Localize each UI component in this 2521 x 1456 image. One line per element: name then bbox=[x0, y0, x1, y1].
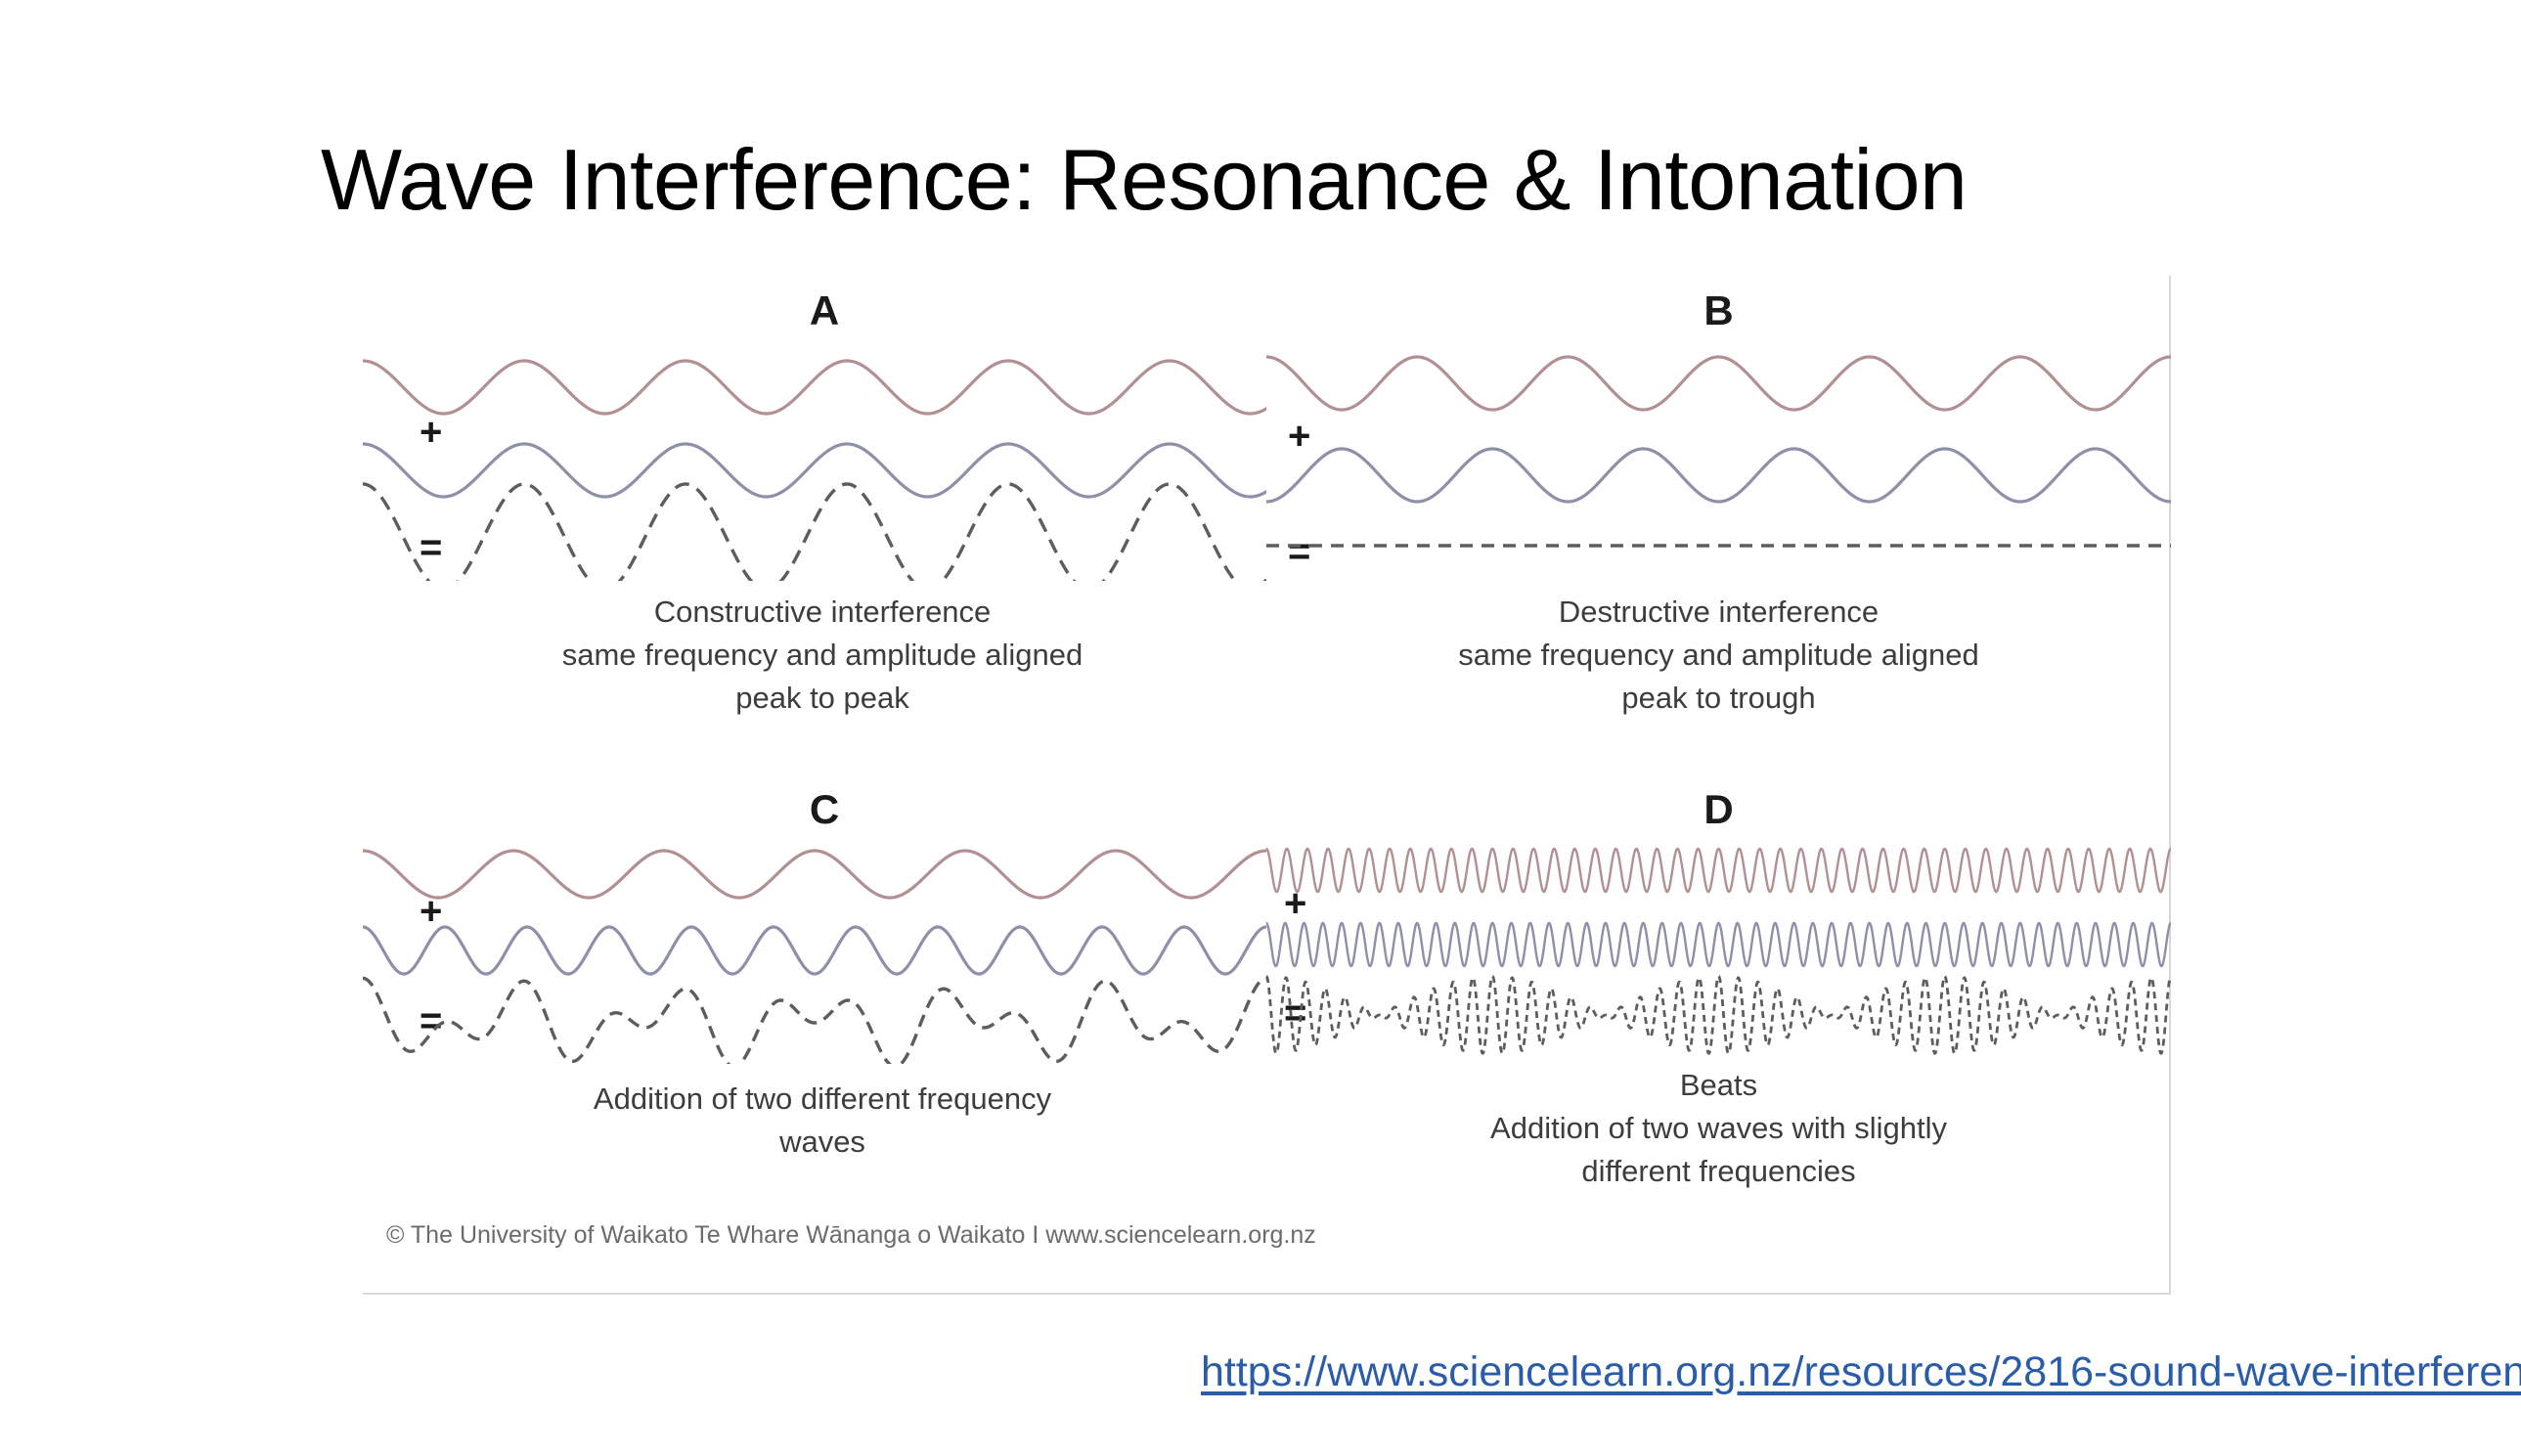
panel-c-letter: C bbox=[363, 786, 1276, 833]
source-url-link[interactable]: https://www.sciencelearn.org.nz/resource… bbox=[1201, 1348, 2521, 1396]
page-title: Wave Interference: Resonance & Intonatio… bbox=[321, 135, 2277, 225]
wave-interference-figure: A + = Constructive interference same fre… bbox=[363, 276, 2171, 1295]
panel-b-caption: Destructive interference same frequency … bbox=[1266, 591, 2171, 720]
panel-c-wave-svg bbox=[363, 831, 1266, 1064]
panel-a-caption: Constructive interference same frequency… bbox=[363, 591, 1274, 720]
panel-d-beats: D + = Beats Addition of two waves with s… bbox=[1266, 774, 2171, 1244]
panel-a-constructive-interference: A + = Constructive interference same fre… bbox=[363, 276, 1266, 774]
panel-d-caption: Beats Addition of two waves with slightl… bbox=[1266, 1064, 2171, 1193]
panel-c-different-frequencies: C + = Addition of two different frequenc… bbox=[363, 774, 1266, 1244]
panel-c-waveforms bbox=[363, 831, 1266, 1064]
panel-d-wave-svg bbox=[1266, 831, 2171, 1064]
panel-d-waveforms bbox=[1266, 831, 2171, 1064]
panel-c-caption: Addition of two different frequency wave… bbox=[363, 1078, 1274, 1164]
panel-a-wave-svg bbox=[363, 336, 1266, 581]
panel-b-waveforms bbox=[1266, 336, 2171, 581]
panel-a-waveforms bbox=[363, 336, 1266, 581]
figure-credit-line: © The University of Waikato Te Whare Wān… bbox=[386, 1221, 1316, 1250]
panel-d-letter: D bbox=[1266, 786, 2171, 833]
presentation-slide: Wave Interference: Resonance & Intonatio… bbox=[0, 0, 2521, 1456]
panel-b-destructive-interference: B + = Destructive interference same freq… bbox=[1266, 276, 2171, 774]
panel-b-wave-svg bbox=[1266, 336, 2171, 581]
panel-b-letter: B bbox=[1266, 287, 2171, 334]
panel-a-letter: A bbox=[363, 287, 1276, 334]
